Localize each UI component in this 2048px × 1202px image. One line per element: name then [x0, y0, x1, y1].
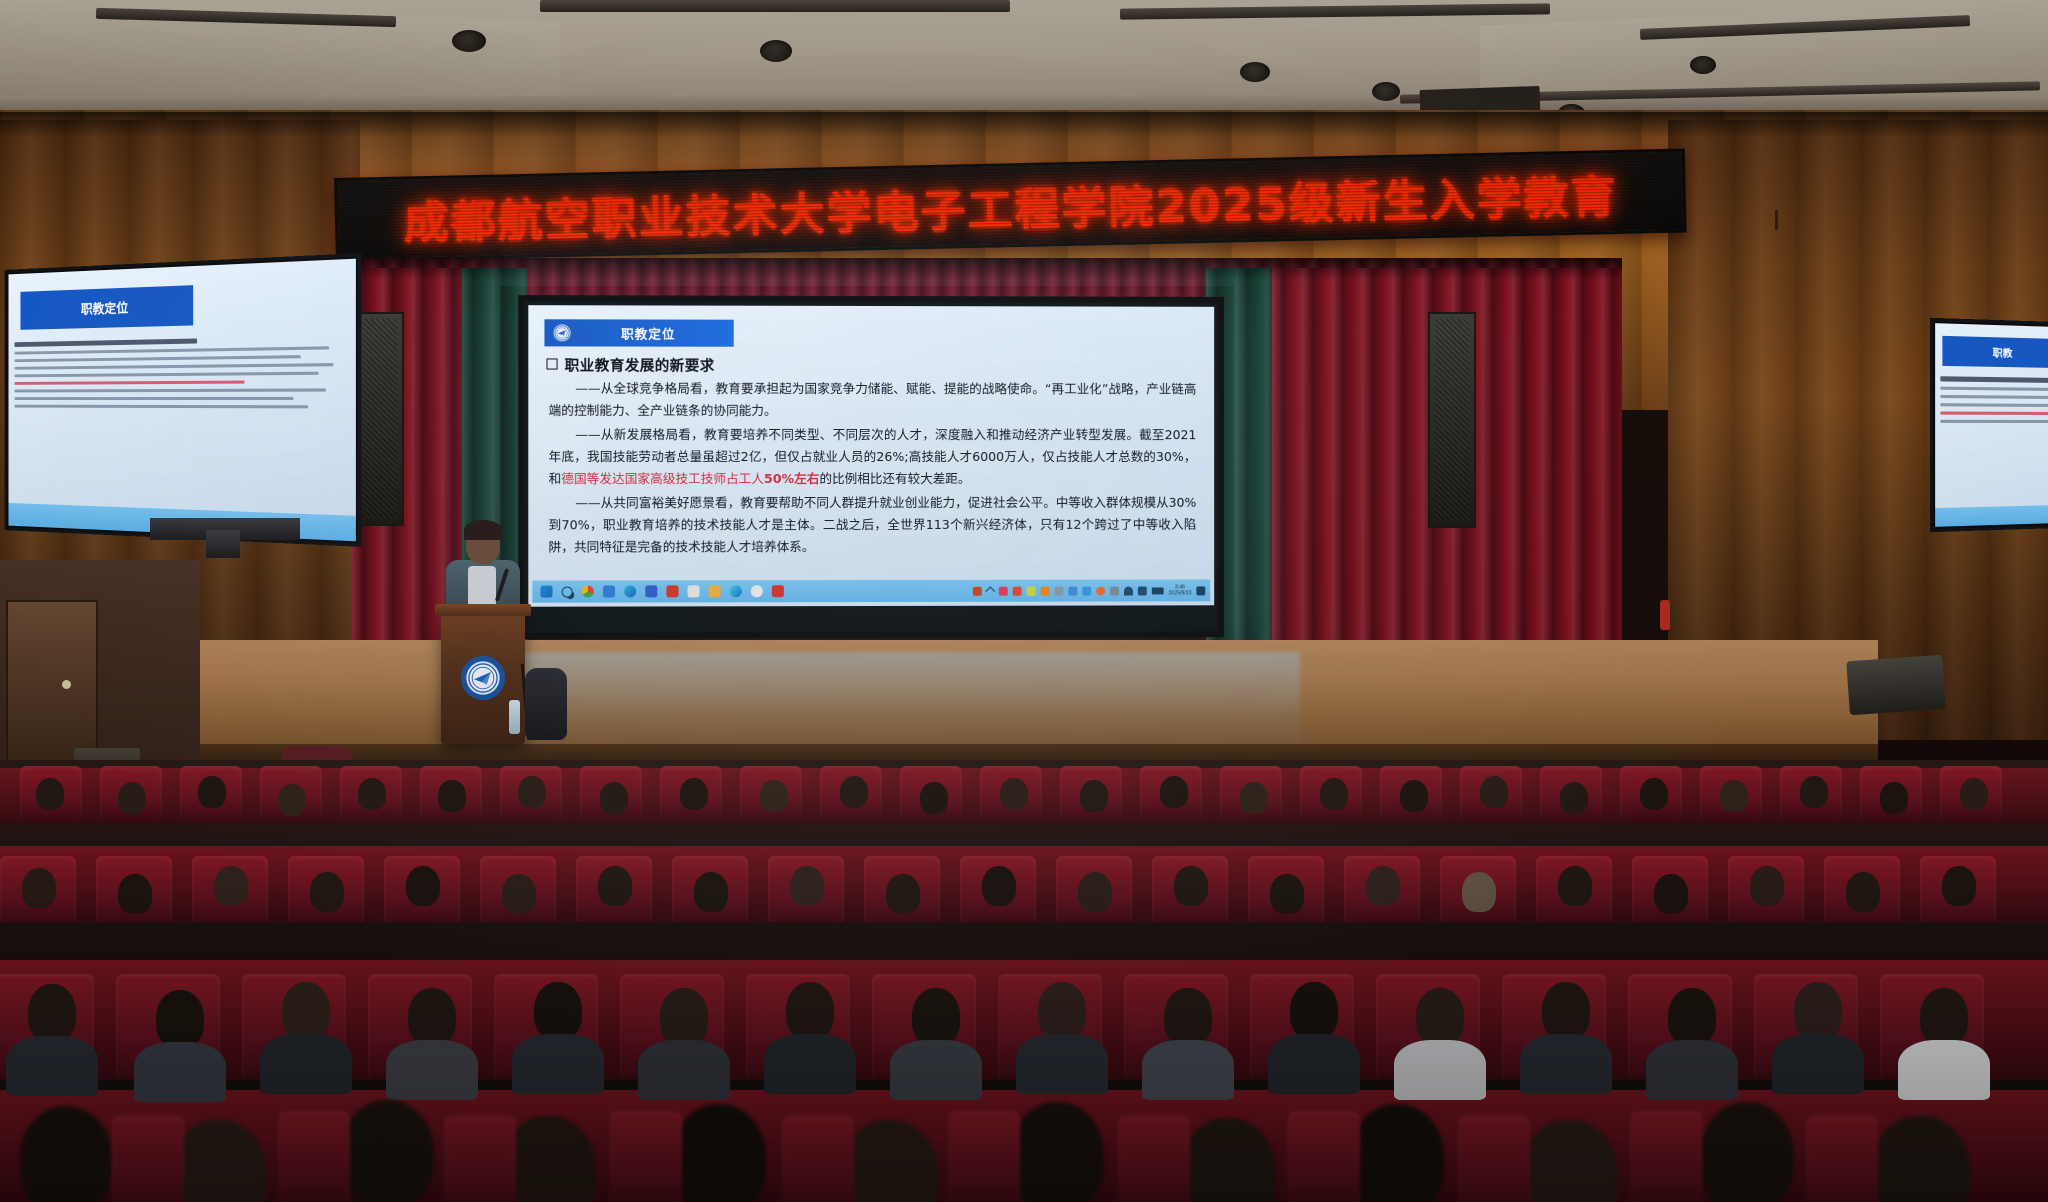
wps-writer-icon[interactable] — [666, 585, 678, 597]
taskbar-clock[interactable]: 3:46 2025/9/23 — [1169, 584, 1192, 597]
taskbar-clock-time: 3:46 — [1175, 584, 1185, 590]
audience-head — [28, 984, 76, 1042]
side-monitor-left-line — [15, 388, 326, 392]
app-blue-icon[interactable] — [645, 585, 657, 597]
stage-floor-reflection — [520, 652, 1300, 757]
audience-shoulders — [638, 1040, 730, 1100]
audience-head — [1000, 778, 1028, 810]
audience-head — [598, 866, 632, 906]
audience-head — [282, 982, 330, 1040]
seat-foreground — [1458, 1116, 1530, 1202]
slide-title: 职业教育发展的新要求 — [546, 354, 714, 375]
audience-head — [790, 866, 824, 906]
side-monitor-right-line-highlight — [1940, 411, 2048, 415]
wps-office-icon[interactable] — [772, 585, 784, 597]
audience-shoulders — [1898, 1040, 1990, 1100]
presentation-slide: 职教定位 职业教育发展的新要求 ——从全球竞争格局看，教育要承担起为国家竞争力储… — [528, 305, 1214, 607]
audience-head — [118, 874, 152, 914]
seat-foreground — [1806, 1116, 1878, 1202]
speaker-stack-left — [356, 312, 404, 526]
notification-bell-icon[interactable] — [1196, 586, 1205, 595]
file-explorer-icon[interactable] — [603, 585, 615, 597]
audience-head — [1270, 874, 1304, 914]
audience-head — [600, 782, 628, 814]
audience-shoulders — [134, 1042, 226, 1102]
security-icon[interactable] — [1013, 586, 1022, 595]
audience-head — [408, 988, 456, 1046]
door-handle-icon[interactable] — [62, 680, 71, 689]
audience-head — [1400, 780, 1428, 812]
lemon-app-icon[interactable] — [1027, 586, 1036, 595]
sync-icon[interactable] — [1096, 586, 1105, 595]
audience-head — [358, 778, 386, 810]
audience-head — [786, 982, 834, 1040]
side-door — [6, 600, 98, 764]
wifi-icon[interactable] — [1124, 586, 1133, 595]
slide-header-bar: 职教定位 — [544, 319, 733, 346]
audience-head — [680, 778, 708, 810]
chrome-icon[interactable] — [582, 585, 594, 597]
slide-header-label: 职教定位 — [573, 323, 734, 342]
banner-hanger-4 — [1775, 210, 1778, 230]
audience-head — [920, 782, 948, 814]
side-monitor-right-headerbar: 职教 — [1943, 336, 2048, 369]
side-monitor-left-header-label: 职教定位 — [21, 295, 193, 319]
seat-foreground — [444, 1116, 516, 1202]
audience-head-foreground — [340, 1100, 434, 1202]
audience-head — [1794, 982, 1842, 1040]
windows-taskbar[interactable]: 3:46 2025/9/23 — [532, 579, 1210, 602]
audience-head — [406, 866, 440, 906]
audience-head — [1560, 782, 1588, 814]
audience-head — [760, 780, 788, 812]
audience-head — [886, 874, 920, 914]
audience-head — [278, 784, 306, 816]
audience-head — [502, 874, 536, 914]
seat-foreground — [948, 1112, 1020, 1202]
ceiling-slot-2 — [540, 0, 1010, 12]
audience-head — [1080, 780, 1108, 812]
podium-school-emblem-icon — [461, 656, 505, 700]
audience-head — [534, 982, 582, 1040]
side-monitor-right-line — [1940, 395, 2048, 400]
school-emblem-icon — [552, 322, 573, 343]
audience-head — [310, 872, 344, 912]
audience-head-foreground — [20, 1106, 112, 1202]
side-monitor-left-line — [15, 363, 333, 370]
ceiling-downlight-1 — [452, 30, 486, 52]
mail-icon[interactable] — [1068, 586, 1077, 595]
audience-head — [1290, 982, 1338, 1040]
bullet-square-icon — [546, 358, 557, 369]
side-monitor-left-title-line — [15, 338, 197, 347]
slide-paragraph-2: ——从新发展格局看，教育要培养不同类型、不同层次的人才，深度融入和推动经济产业转… — [549, 424, 1197, 489]
fire-extinguisher — [1660, 600, 1670, 630]
projection-screen: 职教定位 职业教育发展的新要求 ——从全球竞争格局看，教育要承担起为国家竞争力储… — [518, 295, 1224, 639]
audience-area — [0, 760, 2048, 1202]
audience-shoulders — [1016, 1034, 1108, 1094]
seat-foreground — [1288, 1112, 1360, 1202]
audience-head — [118, 782, 146, 814]
ceiling-downlight-3 — [1240, 62, 1270, 82]
side-monitor-right-taskbar — [1935, 502, 2048, 526]
edge-chromium-icon[interactable] — [730, 585, 742, 597]
side-monitor-left-arm — [206, 530, 240, 558]
speaker-stack-right — [1428, 312, 1476, 528]
audience-head — [1078, 872, 1112, 912]
slide-paragraph-1: ——从全球竞争格局看，教育要承担起为国家竞争力储能、赋能、提能的战略使命。“再工… — [549, 378, 1197, 422]
auditorium-photo: 成都航空职业技术大学电子工程学院2025级新生入学教育 职教定位 — [0, 0, 2048, 1202]
audience-head — [22, 868, 56, 908]
ceiling-downlight-4 — [1372, 82, 1400, 101]
audience-shoulders — [1142, 1040, 1234, 1100]
slide-paragraph-3: ——从共同富裕美好愿景看，教育要帮助不同人群提升就业创业能力，促进社会公平。中等… — [549, 492, 1197, 558]
side-monitor-right-header-label: 职教 — [1943, 343, 2048, 361]
audience-head — [1960, 778, 1988, 810]
volume-icon[interactable] — [1138, 586, 1147, 595]
side-monitor-left-line — [15, 371, 319, 377]
audience-head — [1164, 988, 1212, 1046]
battery-icon[interactable] — [1152, 587, 1164, 594]
audience-head — [438, 780, 466, 812]
audience-head — [694, 872, 728, 912]
audience-head — [198, 776, 226, 808]
side-monitor-left-headerbar: 职教定位 — [21, 285, 193, 330]
audience-shoulders — [890, 1040, 982, 1100]
audience-head — [912, 988, 960, 1046]
audience-head — [1240, 782, 1268, 814]
audience-head — [1942, 866, 1976, 906]
audience-shoulders — [386, 1040, 478, 1100]
side-monitor-right-slide: 职教 — [1935, 323, 2048, 527]
curtain-top-shadow — [352, 258, 1622, 280]
audience-head — [214, 866, 248, 906]
seat-foreground — [782, 1116, 854, 1202]
audience-head-foreground — [1350, 1104, 1444, 1202]
slide-body: ——从全球竞争格局看，教育要承担起为国家竞争力储能、赋能、提能的战略使命。“再工… — [549, 378, 1197, 561]
slide-paragraph-2-part-b: 的比例相比还有较大差距。 — [819, 471, 970, 486]
taskbar-clock-date: 2025/9/23 — [1169, 590, 1192, 596]
audience-head — [1800, 776, 1828, 808]
ceiling-downlight-2 — [760, 40, 792, 62]
audience-head — [518, 776, 546, 808]
stage-right-speaker-box — [1846, 655, 1946, 716]
side-monitor-left-line — [15, 346, 330, 354]
side-monitor-right-line — [1940, 420, 2048, 423]
audience-shoulders — [1520, 1034, 1612, 1094]
podium-top-surface — [435, 604, 531, 616]
audience-head — [36, 778, 64, 810]
cloud-icon[interactable] — [1054, 586, 1063, 595]
panda-app-icon[interactable] — [688, 585, 700, 597]
side-monitor-left-line — [15, 355, 301, 362]
side-monitor-right-text — [1940, 376, 2048, 428]
shield-icon[interactable] — [999, 586, 1008, 595]
audience-head — [1480, 776, 1508, 808]
audience-head — [1880, 782, 1908, 814]
audience-head — [1558, 866, 1592, 906]
audience-head — [1160, 776, 1188, 808]
qq-icon[interactable] — [751, 585, 763, 597]
edge-icon[interactable] — [624, 585, 636, 597]
led-banner-text: 成都航空职业技术大学电子工程学院2025级新生入学教育 — [403, 160, 1618, 251]
audience-shoulders — [764, 1034, 856, 1094]
audience-head-foreground — [672, 1104, 766, 1202]
side-monitor-left: 职教定位 — [4, 253, 361, 547]
speaker-hair — [464, 520, 502, 540]
side-monitor-left-line-highlight — [15, 380, 245, 384]
audience-shoulders — [6, 1036, 98, 1096]
audience-head — [1846, 872, 1880, 912]
audience-head — [660, 988, 708, 1046]
audience-head — [156, 990, 204, 1048]
chevron-up-icon[interactable] — [985, 586, 995, 596]
audience-shoulders — [1268, 1034, 1360, 1094]
side-monitor-right: 职教 — [1930, 318, 2048, 532]
water-bottle — [509, 700, 520, 734]
audience-head — [1416, 988, 1464, 1046]
audience-shoulders — [1646, 1040, 1738, 1100]
audience-shoulders — [260, 1034, 352, 1094]
backpack-on-stage — [525, 668, 567, 740]
audience-shoulders — [1772, 1034, 1864, 1094]
wall-shadow-band — [0, 112, 2048, 138]
audience-head — [1542, 982, 1590, 1040]
audience-head — [1640, 778, 1668, 810]
slide-highlight-red-bold: 50%左右 — [764, 471, 819, 486]
folder-icon[interactable] — [709, 585, 721, 597]
windows-start-icon[interactable] — [540, 586, 552, 598]
audience-head — [1366, 866, 1400, 906]
powerpoint-icon[interactable] — [973, 586, 982, 595]
seat-foreground — [610, 1112, 682, 1202]
audience-head — [1920, 988, 1968, 1046]
input-method-icon[interactable] — [1110, 586, 1119, 595]
slide-highlight-red: 德国等发达国家高级技工技师占工人 — [561, 471, 764, 486]
audience-head — [1174, 866, 1208, 906]
audience-head — [1720, 780, 1748, 812]
audience-head — [1038, 982, 1086, 1040]
slide-title-text: 职业教育发展的新要求 — [565, 359, 715, 375]
taskbar-pinned-apps[interactable] — [540, 585, 783, 597]
seat-foreground — [1630, 1112, 1702, 1202]
side-monitor-right-title-line — [1940, 376, 2048, 383]
audience-shoulders — [1394, 1040, 1486, 1100]
taskbar-system-tray[interactable]: 3:46 2025/9/23 — [973, 584, 1206, 597]
audience-head — [1462, 872, 1496, 912]
audience-head — [1320, 778, 1348, 810]
audience-head — [1668, 988, 1716, 1046]
side-monitor-left-line — [15, 405, 308, 409]
audience-shoulders — [512, 1034, 604, 1094]
warning-icon[interactable] — [1040, 586, 1049, 595]
side-monitor-left-text — [15, 335, 345, 413]
ceiling-downlight-6 — [1690, 56, 1716, 74]
water-drop-icon[interactable] — [1082, 586, 1091, 595]
audience-head — [1750, 866, 1784, 906]
seat-foreground — [112, 1116, 184, 1202]
side-monitor-left-line — [15, 397, 294, 400]
seat-foreground — [278, 1112, 350, 1202]
audience-head-foreground — [1700, 1102, 1794, 1202]
search-icon[interactable] — [562, 586, 573, 597]
audience-head — [982, 866, 1016, 906]
seat-foreground — [1118, 1116, 1190, 1202]
side-monitor-right-line — [1940, 387, 2048, 392]
side-monitor-right-line — [1940, 403, 2048, 407]
audience-head-foreground — [1010, 1102, 1104, 1202]
side-monitor-left-slide: 职教定位 — [9, 259, 356, 542]
audience-head — [840, 776, 868, 808]
audience-head — [1654, 874, 1688, 914]
